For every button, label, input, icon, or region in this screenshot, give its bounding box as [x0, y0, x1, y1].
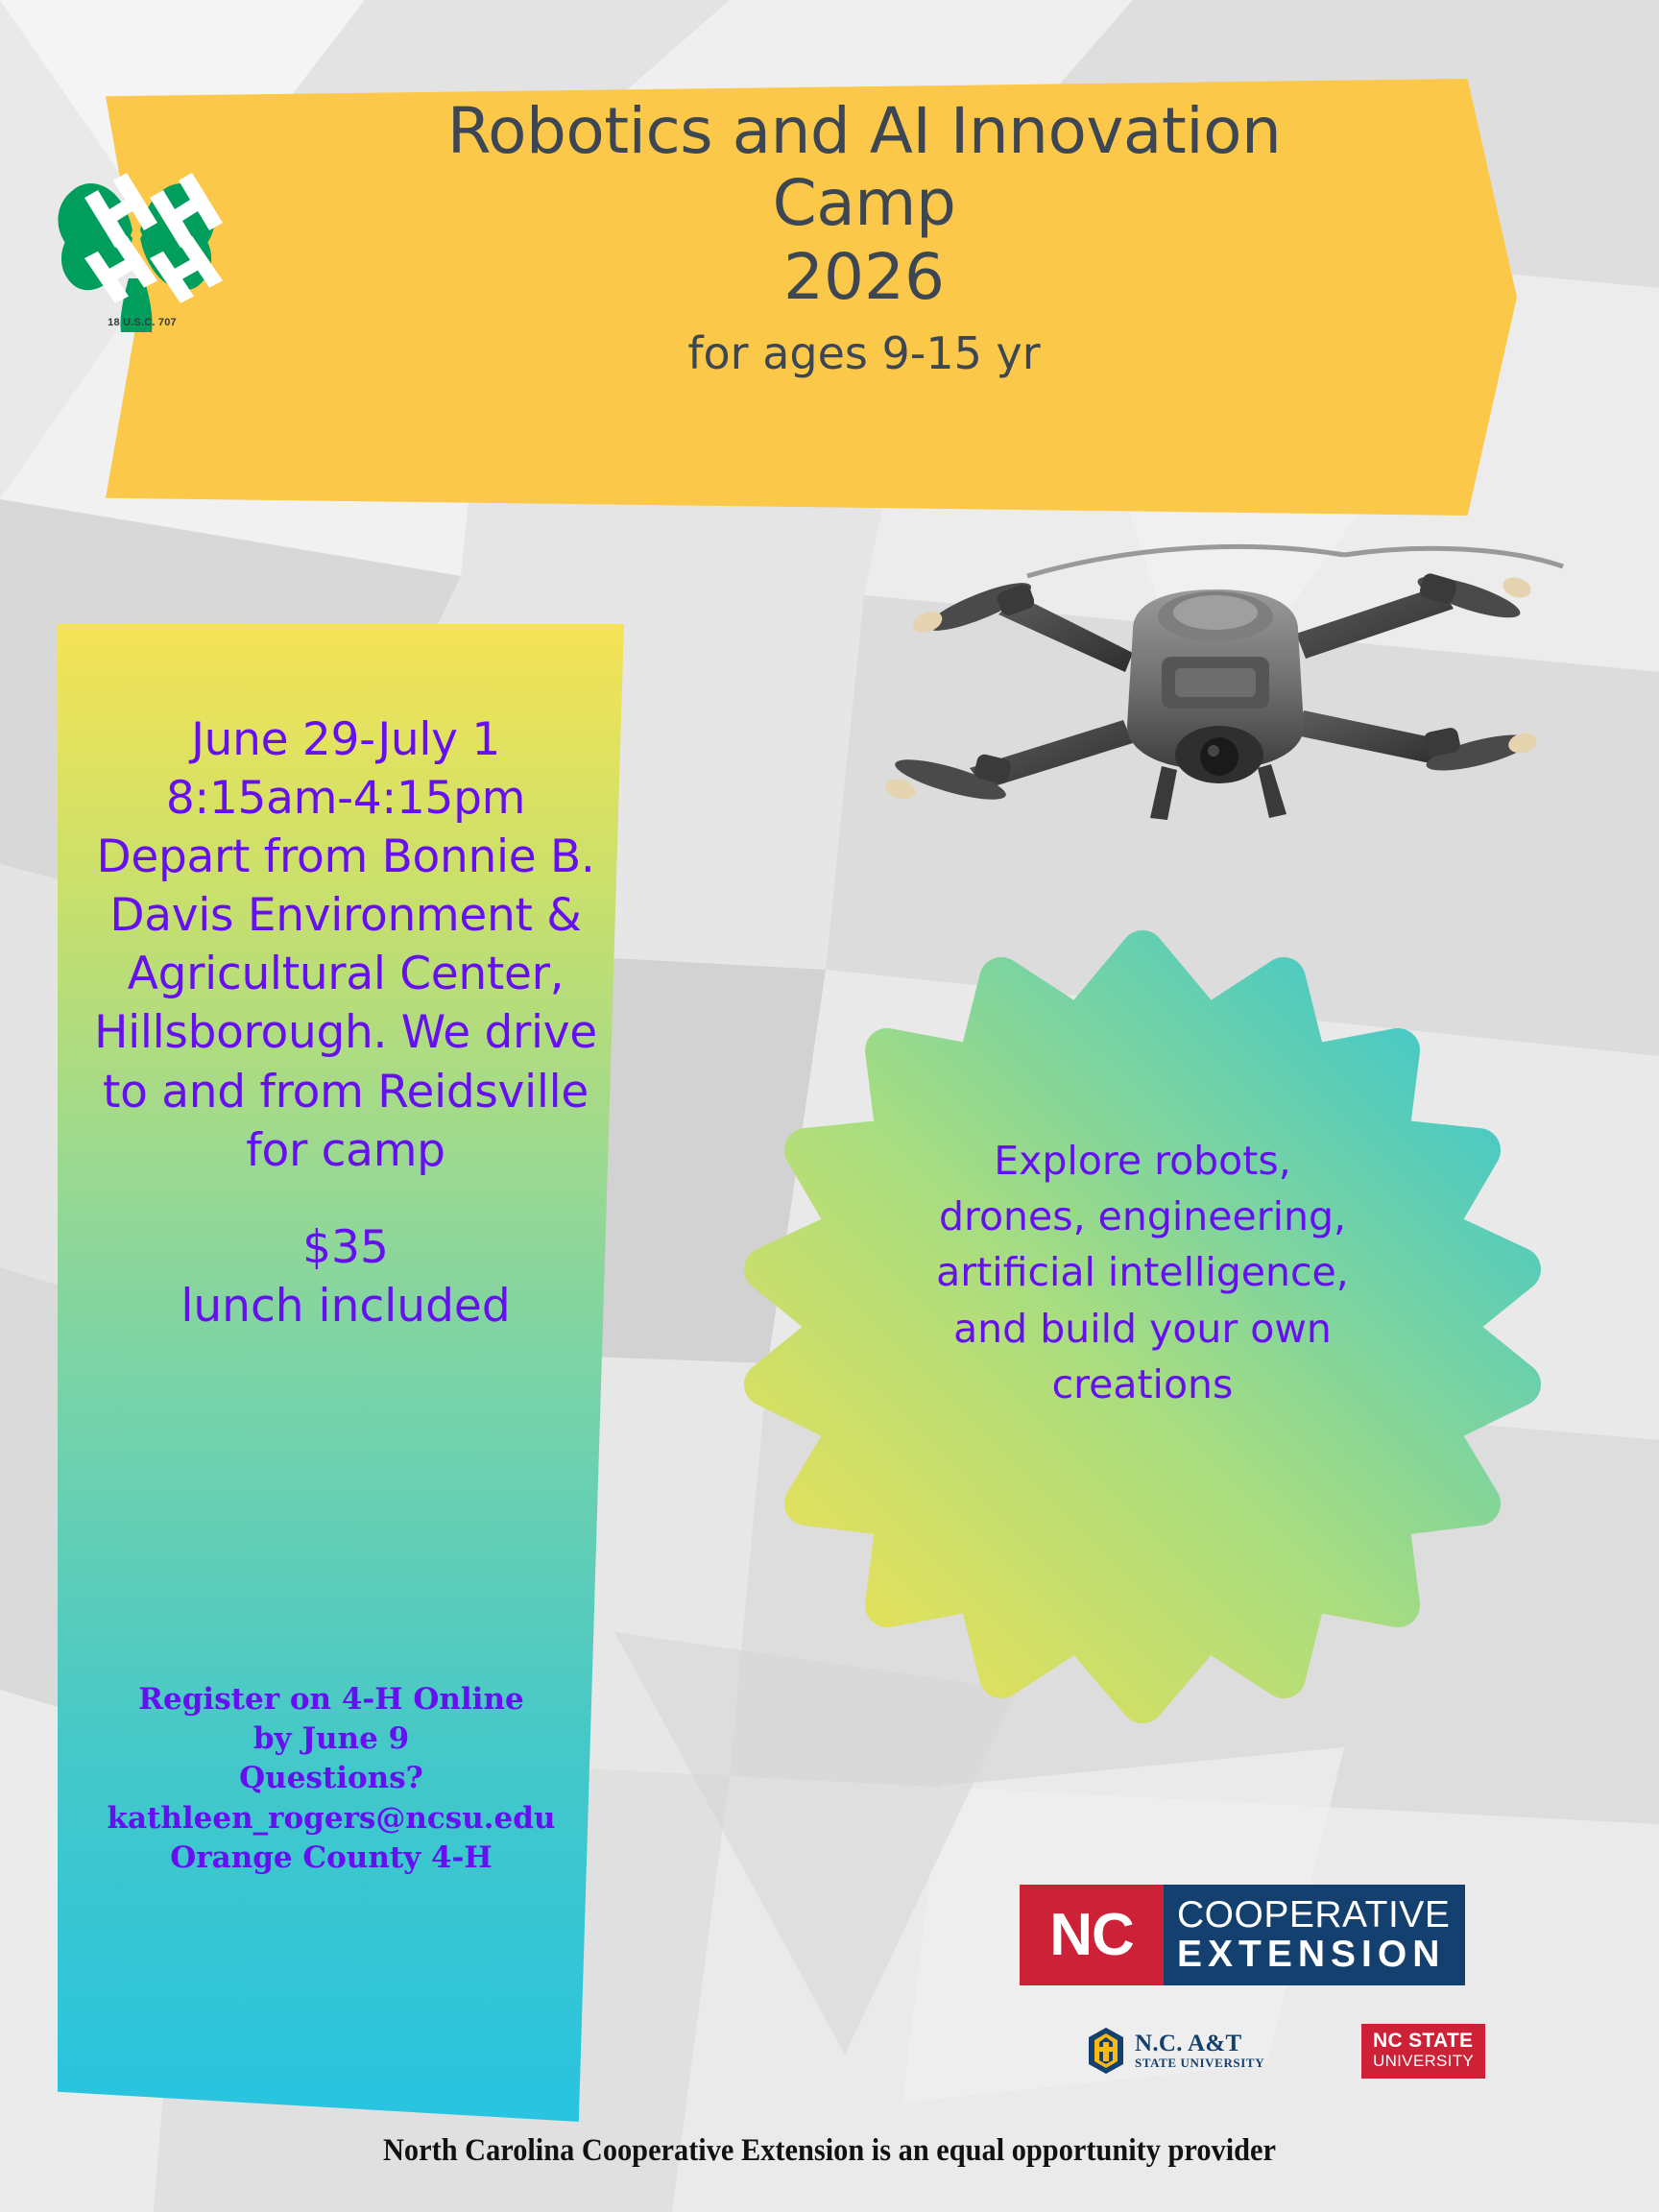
nc-state-university-logo: NC STATE UNIVERSITY	[1361, 2024, 1485, 2079]
schedule-lines: June 29-July 1 8:15am-4:15pm Depart from…	[29, 710, 662, 1180]
ncat-sub-text: STATE UNIVERSITY	[1135, 2056, 1264, 2071]
drone-illustration	[845, 538, 1575, 883]
burst-line: artificial intelligence,	[816, 1244, 1469, 1300]
price-note: lunch included	[29, 1277, 662, 1335]
schedule-line: for camp	[29, 1121, 662, 1180]
price-block: $35 lunch included	[29, 1218, 662, 1335]
burst-line: Explore robots,	[816, 1133, 1469, 1189]
quadcopter-drone-photo	[845, 538, 1575, 883]
poster-canvas: Robotics and AI Innovation Camp 2026 for…	[0, 0, 1659, 2212]
ncat-main-text: N.C. A&T	[1135, 2032, 1264, 2056]
burst-line: and build your own	[816, 1301, 1469, 1357]
questions-label: Questions?	[29, 1759, 634, 1798]
schedule-line: Depart from Bonnie B.	[29, 828, 662, 886]
schedule-line: Davis Environment &	[29, 886, 662, 945]
schedule-line: June 29-July 1	[29, 710, 662, 769]
equal-opportunity-footer: North Carolina Cooperative Extension is …	[66, 2133, 1593, 2169]
ncat-wordmark: N.C. A&T STATE UNIVERSITY	[1135, 2032, 1264, 2071]
nc-at-state-university-logo: N.C. A&T STATE UNIVERSITY	[1085, 2026, 1264, 2076]
ce-wordmark: COOPERATIVE EXTENSION	[1164, 1885, 1465, 1985]
schedule-line: 8:15am-4:15pm	[29, 769, 662, 828]
price-amount: $35	[29, 1218, 662, 1277]
nc-cooperative-extension-logo: NC COOPERATIVE EXTENSION	[1020, 1885, 1465, 1985]
ncat-bell-tower-icon	[1085, 2026, 1127, 2076]
ce-cooperative-text: COOPERATIVE	[1177, 1896, 1450, 1935]
registration-block: Register on 4-H Online by June 9 Questio…	[29, 1680, 634, 1878]
4-h-clover-logo: 18 U.S.C. 707	[36, 134, 248, 350]
clover-legal-text: 18 U.S.C. 707	[36, 317, 248, 328]
schedule-line: Hillsborough. We drive	[29, 1003, 662, 1062]
burst-text-block: Explore robots, drones, engineering, art…	[816, 1133, 1469, 1412]
burst-line: creations	[816, 1357, 1469, 1412]
page-title-year: 2026	[192, 239, 1536, 317]
register-deadline: by June 9	[29, 1719, 634, 1759]
ncat-shield-icon	[1085, 2026, 1127, 2076]
page-title-line1: Robotics and AI Innovation	[192, 96, 1536, 168]
ce-nc-mark: NC	[1020, 1885, 1164, 1985]
schedule-line: Agricultural Center,	[29, 945, 662, 1003]
ce-extension-text: EXTENSION	[1177, 1935, 1450, 1974]
contact-email[interactable]: kathleen_rogers@ncsu.edu	[29, 1799, 634, 1839]
ncsu-sub-text: UNIVERSITY	[1373, 2052, 1474, 2071]
page-title-line2: Camp	[192, 168, 1536, 240]
register-line: Register on 4-H Online	[29, 1680, 634, 1719]
ncsu-main-text: NC STATE	[1373, 2031, 1474, 2052]
schedule-line: to and from Reidsville	[29, 1063, 662, 1121]
burst-line: drones, engineering,	[816, 1189, 1469, 1244]
page-subtitle-ages: for ages 9-15 yr	[192, 321, 1536, 387]
schedule-text-block: June 29-July 1 8:15am-4:15pm Depart from…	[29, 710, 662, 1335]
county-name: Orange County 4-H	[29, 1839, 634, 1878]
header-text-block: Robotics and AI Innovation Camp 2026 for…	[192, 96, 1536, 387]
